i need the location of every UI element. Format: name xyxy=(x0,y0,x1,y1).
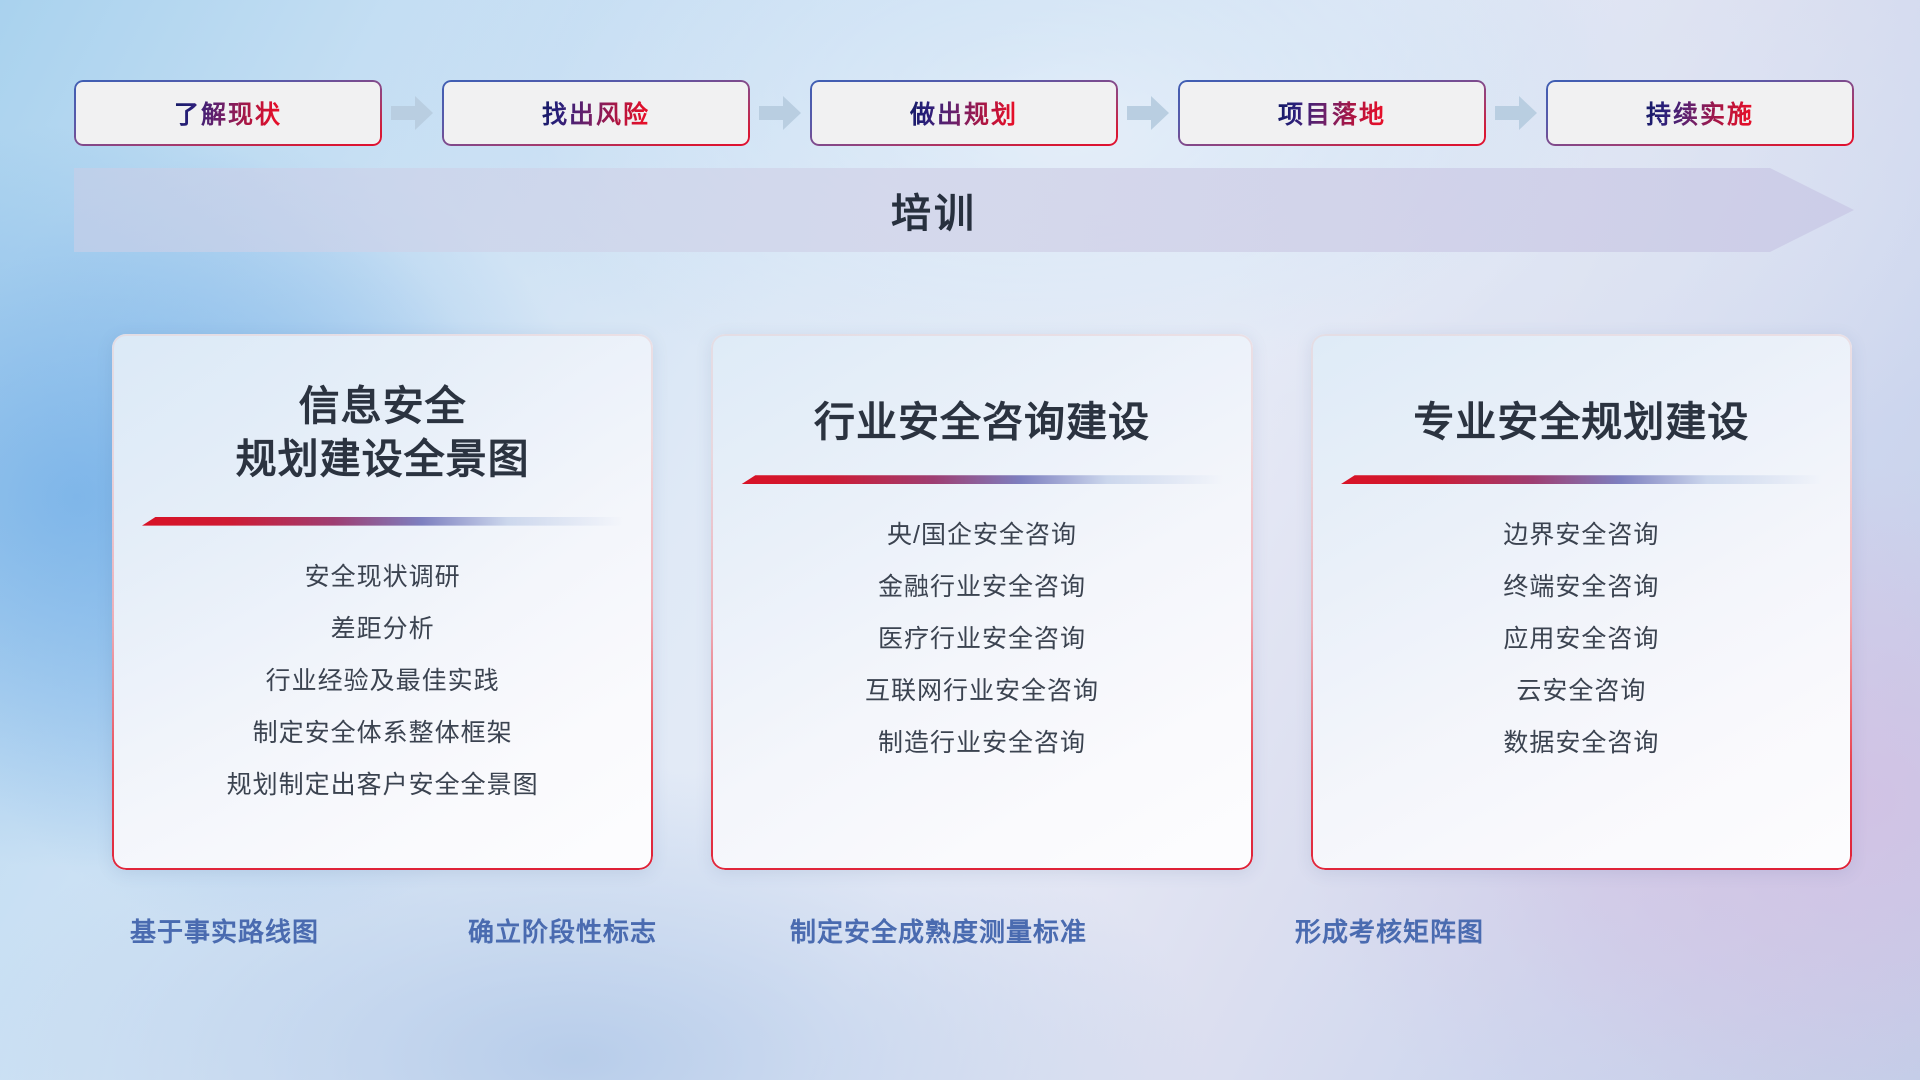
list-item[interactable]: 数据安全咨询 xyxy=(1503,722,1659,765)
list-item[interactable]: 安全现状调研 xyxy=(305,556,461,599)
list-item[interactable]: 制定安全体系整体框架 xyxy=(253,712,513,755)
list-item[interactable]: 差距分析 xyxy=(331,608,435,651)
card-information-security-panorama[interactable]: 信息安全 规划建设全景图安全现状调研差距分析行业经验及最佳实践制定安全体系整体框… xyxy=(112,334,653,870)
step-label: 找出风险 xyxy=(542,95,650,131)
card-industry-security-consulting[interactable]: 行业安全咨询建设央/国企安全咨询金融行业安全咨询医疗行业安全咨询互联网行业安全咨… xyxy=(711,334,1252,870)
step-box-4[interactable]: 项目落地 xyxy=(1178,80,1486,146)
step-box-3[interactable]: 做出规划 xyxy=(810,80,1118,146)
step-label: 项目落地 xyxy=(1278,95,1386,131)
right-arrow-icon xyxy=(750,80,810,146)
footnote-row: 基于事实路线图确立阶段性标志制定安全成熟度测量标准形成考核矩阵图 xyxy=(0,912,1920,964)
footnote-label: 制定安全成熟度测量标准 xyxy=(790,912,1087,949)
step-label: 了解现状 xyxy=(174,95,282,131)
list-item[interactable]: 行业经验及最佳实践 xyxy=(266,660,500,703)
card-accent-divider xyxy=(142,517,623,526)
list-item[interactable]: 规划制定出客户安全全景图 xyxy=(227,764,539,807)
list-item[interactable]: 制造行业安全咨询 xyxy=(878,722,1086,765)
step-label: 持续实施 xyxy=(1646,95,1754,131)
list-item[interactable]: 应用安全咨询 xyxy=(1503,618,1659,661)
card-row: 信息安全 规划建设全景图安全现状调研差距分析行业经验及最佳实践制定安全体系整体框… xyxy=(112,334,1852,870)
right-arrow-icon xyxy=(1118,80,1178,146)
list-item[interactable]: 央/国企安全咨询 xyxy=(887,514,1077,557)
list-item[interactable]: 金融行业安全咨询 xyxy=(878,566,1086,609)
card-title: 行业安全咨询建设 xyxy=(790,396,1174,449)
step-label: 做出规划 xyxy=(910,95,1018,131)
step-box-1[interactable]: 了解现状 xyxy=(74,80,382,146)
list-item[interactable]: 医疗行业安全咨询 xyxy=(878,618,1086,661)
process-step-row: 了解现状找出风险做出规划项目落地持续实施 xyxy=(74,80,1854,146)
card-item-list: 安全现状调研差距分析行业经验及最佳实践制定安全体系整体框架规划制定出客户安全全景… xyxy=(112,556,653,807)
card-item-list: 央/国企安全咨询金融行业安全咨询医疗行业安全咨询互联网行业安全咨询制造行业安全咨… xyxy=(711,514,1252,765)
step-box-5[interactable]: 持续实施 xyxy=(1546,80,1854,146)
slide-canvas: 了解现状找出风险做出规划项目落地持续实施 培训 信息安全 规划建设全景图安全现状… xyxy=(0,0,1920,1080)
banner-title: 培训 xyxy=(74,168,1854,252)
card-title: 专业安全规划建设 xyxy=(1389,396,1773,449)
step-box-2[interactable]: 找出风险 xyxy=(442,80,750,146)
list-item[interactable]: 终端安全咨询 xyxy=(1503,566,1659,609)
card-accent-divider xyxy=(741,475,1222,484)
card-accent-divider xyxy=(1341,475,1822,484)
list-item[interactable]: 云安全咨询 xyxy=(1516,670,1646,713)
footnote-label: 形成考核矩阵图 xyxy=(1295,912,1484,949)
right-arrow-icon xyxy=(382,80,442,146)
training-banner: 培训 xyxy=(74,168,1854,252)
footnote-label: 基于事实路线图 xyxy=(130,912,319,949)
card-professional-security-planning[interactable]: 专业安全规划建设边界安全咨询终端安全咨询应用安全咨询云安全咨询数据安全咨询 xyxy=(1311,334,1852,870)
list-item[interactable]: 互联网行业安全咨询 xyxy=(865,670,1099,713)
card-title: 信息安全 规划建设全景图 xyxy=(212,380,554,487)
list-item[interactable]: 边界安全咨询 xyxy=(1503,514,1659,557)
footnote-label: 确立阶段性标志 xyxy=(468,912,657,949)
right-arrow-icon xyxy=(1486,80,1546,146)
card-item-list: 边界安全咨询终端安全咨询应用安全咨询云安全咨询数据安全咨询 xyxy=(1311,514,1852,765)
